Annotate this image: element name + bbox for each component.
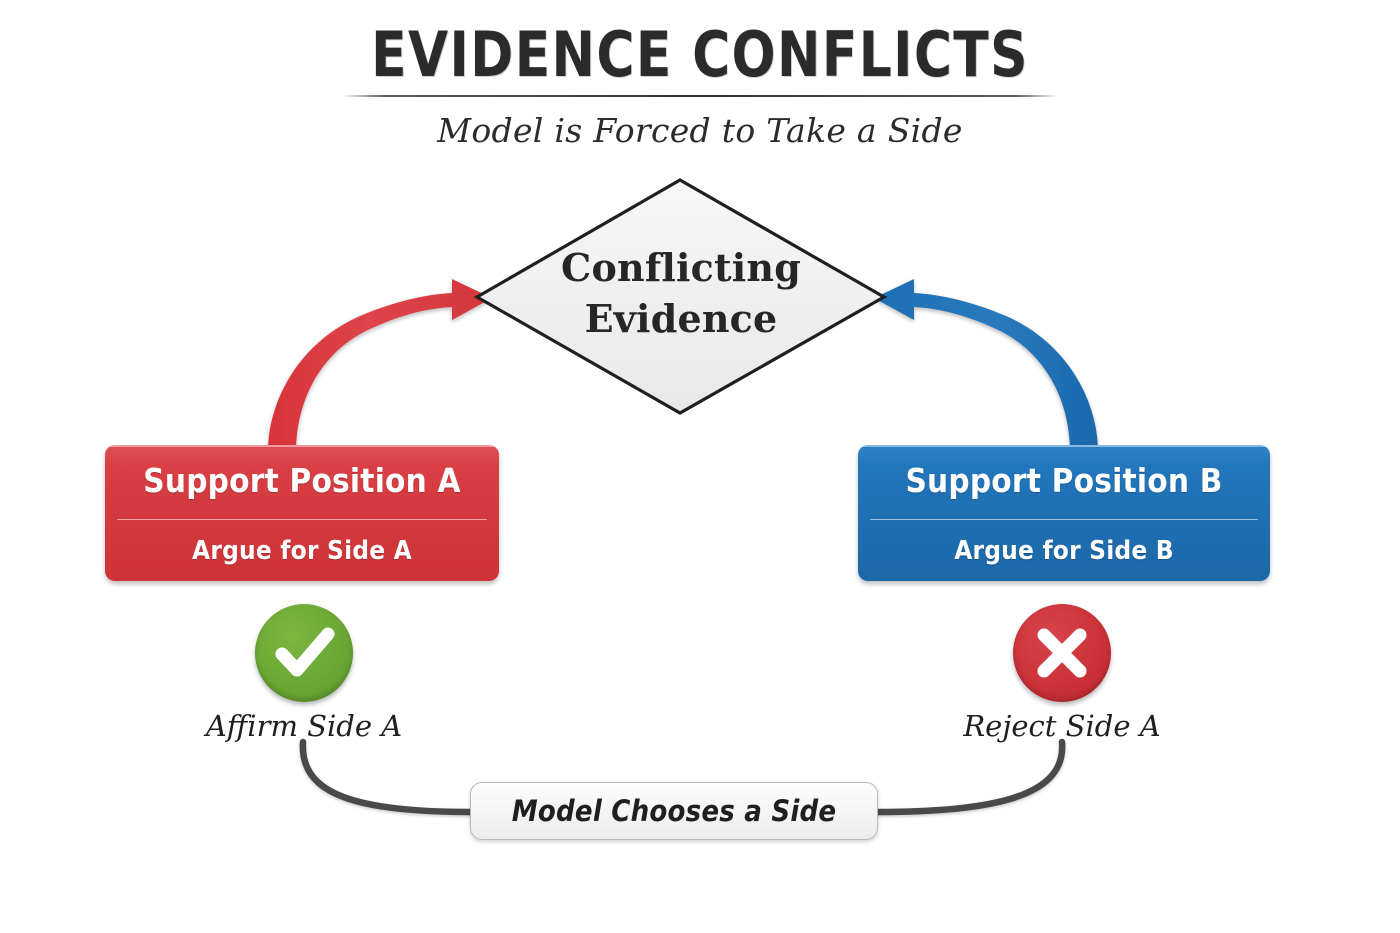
- summary-connector-left: [303, 742, 470, 812]
- box-a-divider: [117, 519, 487, 520]
- outcome-label-reject: Reject Side A: [892, 709, 1232, 743]
- check-circle-icon: [255, 604, 353, 702]
- box-b-title: Support Position B: [858, 445, 1270, 515]
- diamond-label: Conflicting Evidence: [538, 243, 824, 344]
- arrow-support-a: [268, 279, 492, 452]
- box-a-title: Support Position A: [105, 445, 499, 515]
- support-position-a-box[interactable]: Support Position A Argue for Side A: [105, 445, 499, 581]
- diamond-label-line1: Conflicting: [538, 243, 824, 294]
- outcome-label-affirm: Affirm Side A: [134, 709, 474, 743]
- support-position-b-box[interactable]: Support Position B Argue for Side B: [858, 445, 1270, 581]
- box-b-divider: [870, 519, 1258, 520]
- summary-connector-right: [878, 742, 1062, 812]
- diagram-canvas: EVIDENCE CONFLICTS Model is Forced to Ta…: [0, 0, 1400, 933]
- diamond-label-line2: Evidence: [538, 294, 824, 345]
- summary-pill-label: Model Chooses a Side: [512, 794, 837, 828]
- arrow-support-b: [874, 279, 1098, 452]
- box-a-subtitle: Argue for Side A: [105, 521, 499, 581]
- summary-pill[interactable]: Model Chooses a Side: [470, 782, 878, 840]
- box-b-subtitle: Argue for Side B: [858, 521, 1270, 581]
- x-circle-icon: [1013, 604, 1111, 702]
